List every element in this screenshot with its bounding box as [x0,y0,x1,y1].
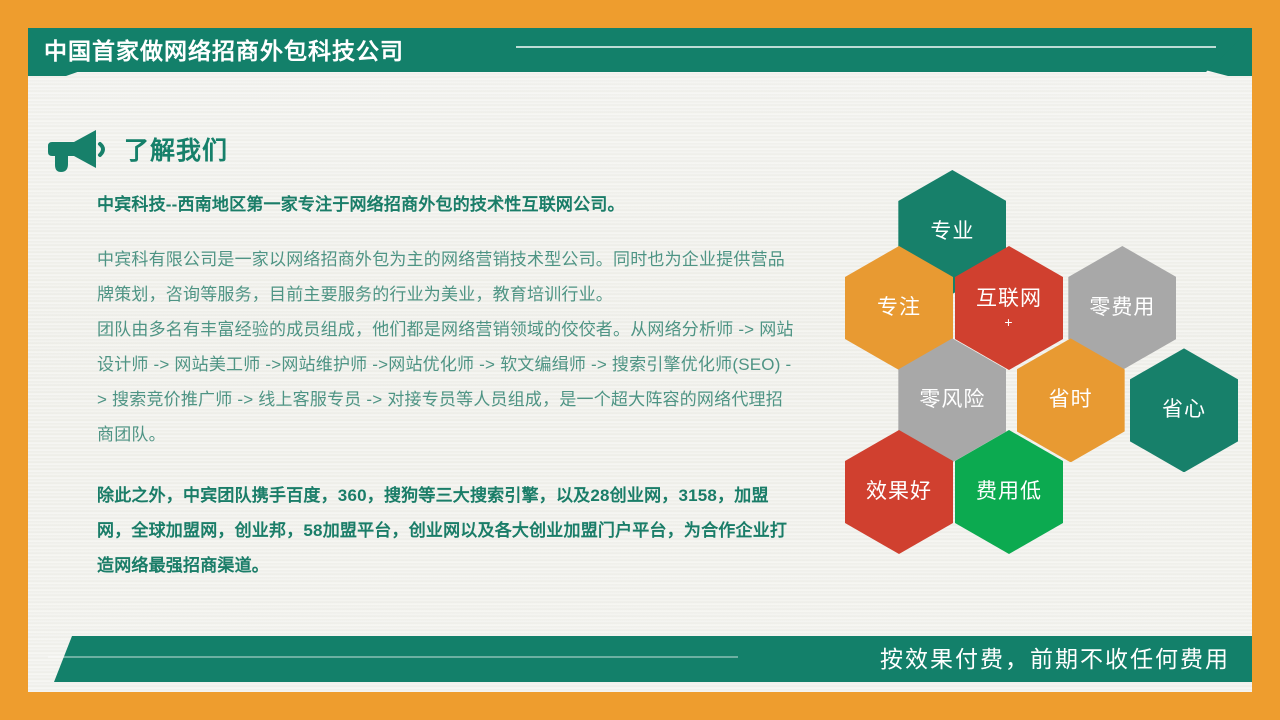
megaphone-icon [48,128,108,174]
section-heading: 了解我们 [48,128,228,174]
hexagon-label: 效果好 [866,479,932,505]
hexagon-label: 省时 [1049,387,1093,413]
about-body: 中宾科技--西南地区第一家专注于网络招商外包的技术性互联网公司。 中宾科有限公司… [97,190,797,583]
body-paragraph-1: 中宾科有限公司是一家以网络招商外包为主的网络营销技术型公司。同时也为企业提供营品… [97,242,797,312]
hexagon-label: 专注 [877,295,921,321]
hexagon-label: 互联网 [976,286,1042,312]
header-divider-line [516,46,1216,48]
hexagon-tile[interactable]: 省心 [1130,348,1238,472]
hexagon-label: 零费用 [1089,295,1155,321]
hexagon-label: 省心 [1162,397,1206,423]
slide-canvas: 中国首家做网络招商外包科技公司 了解我们 中宾科技--西南地区第一家专注于网络招… [0,0,1280,720]
hexagon-label: 零风险 [919,387,985,413]
hexagon-sublabel: + [1004,314,1013,330]
body-paragraph-2: 团队由多名有丰富经验的成员组成，他们都是网络营销领域的佼佼者。从网络分析师 ->… [97,312,797,452]
page-title: 中国首家做网络招商外包科技公司 [44,34,404,68]
closing-paragraph: 除此之外，中宾团队携手百度，360，搜狗等三大搜索引擎，以及28创业网，3158… [97,478,797,583]
section-title: 了解我们 [124,136,228,166]
hexagon-cluster: 专业专注互联网+零费用零风险省时省心效果好费用低 [830,150,1250,550]
lead-statement: 中宾科技--西南地区第一家专注于网络招商外包的技术性互联网公司。 [97,190,797,220]
hexagon-label: 专业 [930,219,974,245]
footer-tagline: 按效果付费，前期不收任何费用 [880,643,1230,675]
footer-divider-line [48,656,738,658]
hexagon-label: 费用低 [976,479,1042,505]
